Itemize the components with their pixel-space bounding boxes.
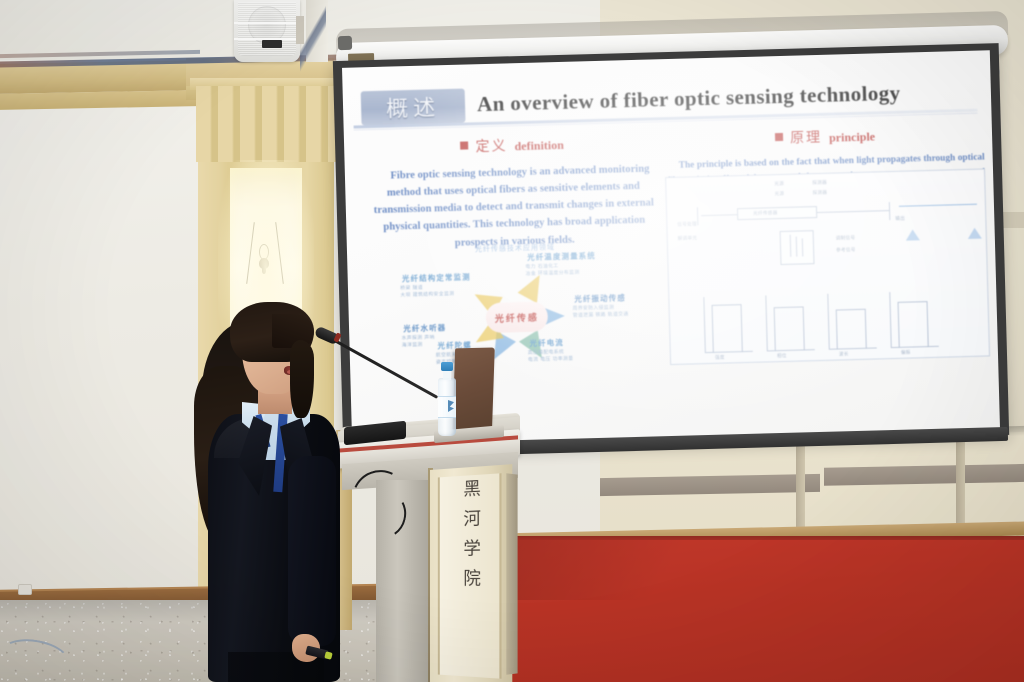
definition-body: Fibre optic sensing technology is an adv… [367,160,661,254]
radial-branch-sublabel-3: 高压输配电系统电流 电压 功率测量 [528,349,574,365]
schematic-blue-rule [899,204,977,207]
radial-hub-label: 光纤传感 [495,310,539,324]
panel-band-2 [824,464,1024,486]
presenter-arm [288,456,336,646]
panel-band-1 [600,474,820,496]
schematic-caption-b: 探测器 [812,180,827,186]
presenter-hair-side [290,340,314,418]
bullet-square-icon [775,133,783,141]
radial-branch-label-3: 光纤电流 [529,337,564,349]
screen-housing-end-left [338,36,352,50]
radial-diagram: 光纤传感技术应用领域 光纤传感 光纤结构定常监测桥梁 隧道大坝 建筑结构安全监测… [371,249,662,385]
schematic-caption-b2: 探测器 [812,190,827,196]
principle-heading: 原理 principle [666,122,984,151]
schematic-block-label-2: 解调单元 [678,235,698,242]
bottle-neck [443,370,451,380]
radial-branch-sublabel-2: 周界安防入侵监测管道泄漏 铁路 轨道交通 [573,304,629,320]
schematic-pulse-3 [898,301,929,348]
slide-title-tab: 概述 [361,89,466,126]
principle-heading-en: principle [829,129,875,145]
schematic-plot-label-3: 偏振 [901,350,911,356]
principle-heading-cn: 原理 [790,127,823,148]
wall-speaker [234,0,300,62]
schematic-pulse-2 [836,309,867,350]
slide-title-cn: 概述 [386,90,441,123]
presenter [180,296,370,682]
lectern-side-panel [506,473,517,674]
radial-branch-label-5: 光纤水听器 [403,322,446,334]
schematic-plot-label-0: 强度 [715,355,725,361]
bottle-label [438,396,456,418]
schematic-caption-a2: 光源 [775,191,785,197]
speaker-brand-badge [262,40,282,48]
schematic-legend-1: 参考信号 [836,247,856,254]
definition-heading: 定义 definition [366,131,658,159]
schematic-block-label-0: 光纤传感器 [753,210,778,217]
schematic-pulse-0 [712,304,743,353]
schematic-triangle-right-icon [968,228,982,239]
bullet-square-icon [460,141,468,149]
photo-scene: 概述 An overview of fiber optic sensing te… [0,0,1024,682]
schematic-plot-label-2: 波长 [839,351,849,357]
fluted-pilaster-upper [196,86,336,162]
radial-branch-label-2: 光纤振动传感 [574,292,626,304]
venue-calligraphy: 黑河学院 [457,479,483,599]
definition-heading-en: definition [514,138,564,154]
sconce-pendant-tip [262,268,266,274]
schematic-pulse-1 [774,306,805,351]
radial-branch-label-1: 光纤温度测量系统 [527,250,596,263]
schematic-block-label-1: 信号处理 [677,221,697,228]
schematic-plot-label-1: 相位 [777,353,787,359]
bottle-cap [441,362,453,371]
principle-schematic: 光源 探测器 光源 探测器 光纤传感器 信号处理 解调单元 输出 [665,168,990,365]
radial-branch-label-0: 光纤结构定常监测 [402,271,471,284]
wall-outlet [18,584,32,595]
radial-hub: 光纤传感 [485,301,548,333]
speaker-band-top [234,22,300,24]
radial-branch-sublabel-1: 电力 石油化工冶金 环境温度分布监测 [525,262,579,278]
lectern-front-panel: 黑河学院 [430,464,512,682]
schematic-triangle-left-icon [906,229,920,240]
projection-screen: 概述 An overview of fiber optic sensing te… [333,43,1009,453]
radial-branch-sublabel-5: 水声探测 声呐海洋监测 [402,334,435,349]
laptop-lid[interactable] [452,347,494,435]
schematic-legend-0: 调制信号 [836,235,856,242]
schematic-wire-right [889,202,890,220]
definition-heading-cn: 定义 [475,135,508,156]
radial-branch-sublabel-0: 桥梁 隧道大坝 建筑结构安全监测 [400,284,454,300]
slide-left-column: 定义 definition Fibre optic sensing techno… [366,131,661,254]
schematic-caption-a: 光源 [774,181,784,187]
schematic-block-label-3: 输出 [895,216,905,222]
speaker-bracket [296,16,304,44]
